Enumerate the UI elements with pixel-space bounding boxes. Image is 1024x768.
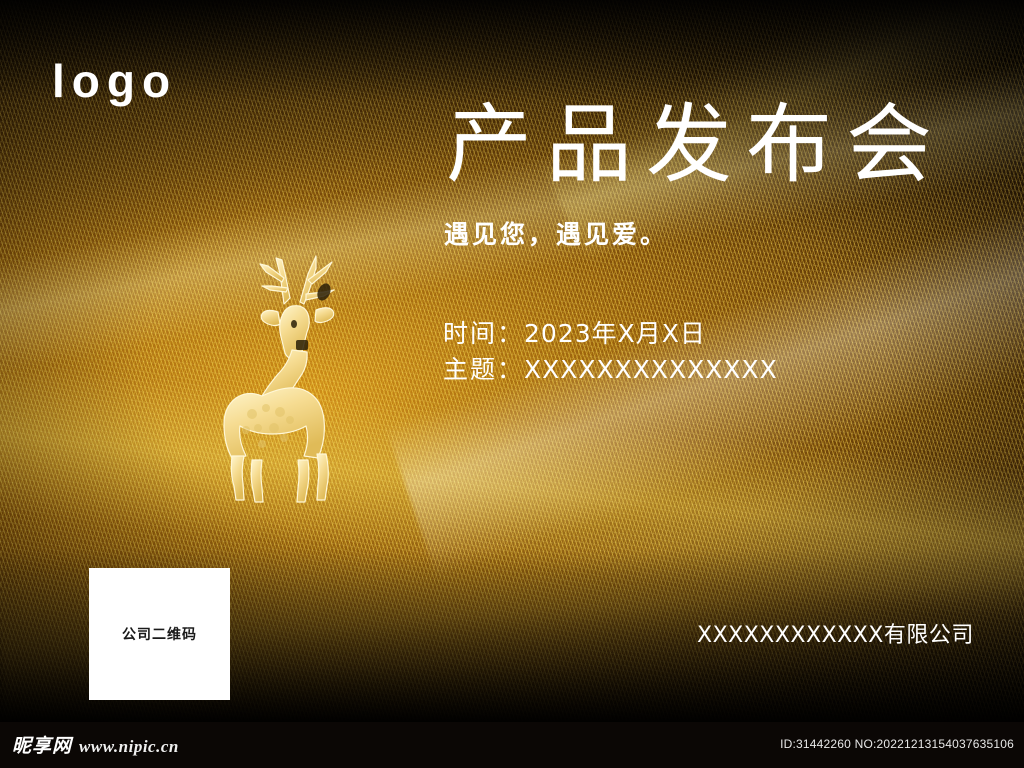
asset-id-text: ID:31442260 NO:20221213154037635106 [780, 737, 1014, 751]
detail-label-topic: 主题： [443, 355, 524, 384]
detail-label-time: 时间： [443, 319, 524, 348]
event-details: 时间：2023年X月X日 主题：XXXXXXXXXXXXXX [443, 316, 778, 389]
company-name: XXXXXXXXXXXX有限公司 [697, 617, 974, 649]
detail-value-topic: XXXXXXXXXXXXXX [524, 355, 778, 384]
detail-line-time: 时间：2023年X月X日 [443, 316, 778, 352]
page-title: 产品发布会 [446, 100, 946, 190]
poster-canvas: logo 产品发布会 遇见您，遇见爱。 时间：2023年X月X日 主题：XXXX… [0, 0, 1024, 768]
subtitle: 遇见您，遇见爱。 [444, 222, 668, 247]
watermark-footer: 昵享网 www.nipic.cn ID:31442260 NO:20221213… [0, 722, 1024, 768]
qr-code-label: 公司二维码 [122, 624, 197, 644]
qr-code-placeholder[interactable]: 公司二维码 [89, 568, 230, 700]
watermark-url[interactable]: www.nipic.cn [79, 737, 179, 757]
detail-value-time: 2023年X月X日 [524, 319, 706, 348]
detail-line-topic: 主题：XXXXXXXXXXXXXX [443, 352, 778, 388]
watermark-brand-cn: 昵享网 [12, 731, 72, 758]
deer-illustration [196, 248, 376, 504]
site-watermark: 昵享网 www.nipic.cn [12, 731, 179, 758]
logo-placeholder[interactable]: logo [52, 58, 177, 104]
